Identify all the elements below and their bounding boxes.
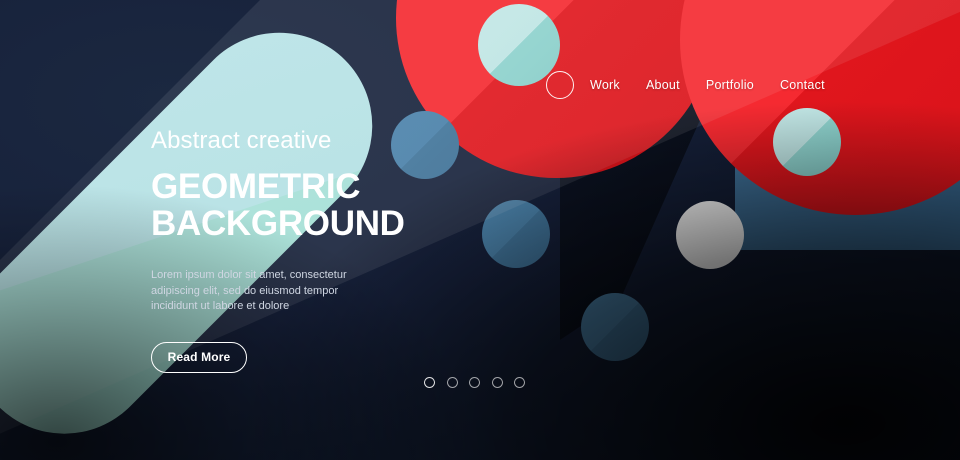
hero-banner: Work About Portfolio Contact Abstract cr…	[0, 0, 960, 460]
hero-eyebrow: Abstract creative	[151, 126, 441, 156]
nav-link-work[interactable]: Work	[590, 78, 620, 93]
hero-paragraph: Lorem ipsum dolor sit amet, consectetur …	[151, 268, 366, 315]
slider-dot-4[interactable]	[492, 377, 503, 388]
slider-dot-3[interactable]	[469, 377, 480, 388]
slider-dot-5[interactable]	[514, 377, 525, 388]
hero-title-line-1: GEOMETRIC	[151, 168, 441, 205]
slider-pagination	[424, 377, 525, 388]
hero-content: Abstract creative GEOMETRIC BACKGROUND L…	[151, 126, 441, 373]
circle-outline-logo-icon[interactable]	[546, 71, 574, 99]
nav-links-list: Work About Portfolio Contact	[590, 78, 825, 93]
slider-dot-1[interactable]	[424, 377, 435, 388]
page-title: GEOMETRIC BACKGROUND	[151, 168, 441, 242]
read-more-button[interactable]: Read More	[151, 342, 247, 373]
nav-link-about[interactable]: About	[646, 78, 680, 93]
nav-link-portfolio[interactable]: Portfolio	[706, 78, 754, 93]
nav-link-contact[interactable]: Contact	[780, 78, 825, 93]
hero-title-line-2: BACKGROUND	[151, 205, 441, 242]
corner-vignette	[0, 0, 960, 460]
slider-dot-2[interactable]	[447, 377, 458, 388]
